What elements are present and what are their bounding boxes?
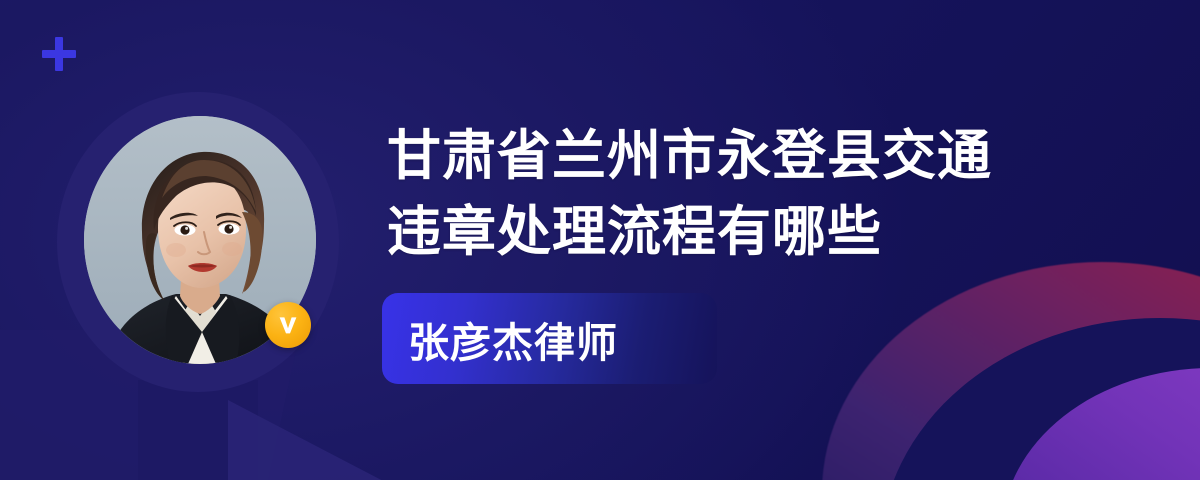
page-title-line-2: 违章处理流程有哪些	[387, 194, 1147, 270]
plus-icon-bar-vertical	[55, 37, 63, 71]
lawyer-name-label: 张彦杰律师	[408, 309, 618, 369]
verified-v-icon	[265, 302, 311, 348]
diagonal-panel-triangle	[228, 400, 458, 480]
lawyer-question-banner: 甘肃省兰州市永登县交通 违章处理流程有哪些 张彦杰律师	[0, 0, 1200, 480]
page-title-line-1: 甘肃省兰州市永登县交通	[387, 118, 1147, 194]
plus-icon	[42, 37, 76, 71]
avatar[interactable]	[57, 92, 339, 392]
page-title: 甘肃省兰州市永登县交通 违章处理流程有哪些	[387, 118, 1147, 270]
diagonal-panel-center	[138, 380, 258, 480]
purple-arc-shape	[1002, 368, 1200, 480]
content-block: 甘肃省兰州市永登县交通 违章处理流程有哪些 张彦杰律师	[387, 118, 1147, 384]
lawyer-name-badge[interactable]: 张彦杰律师	[382, 293, 717, 384]
